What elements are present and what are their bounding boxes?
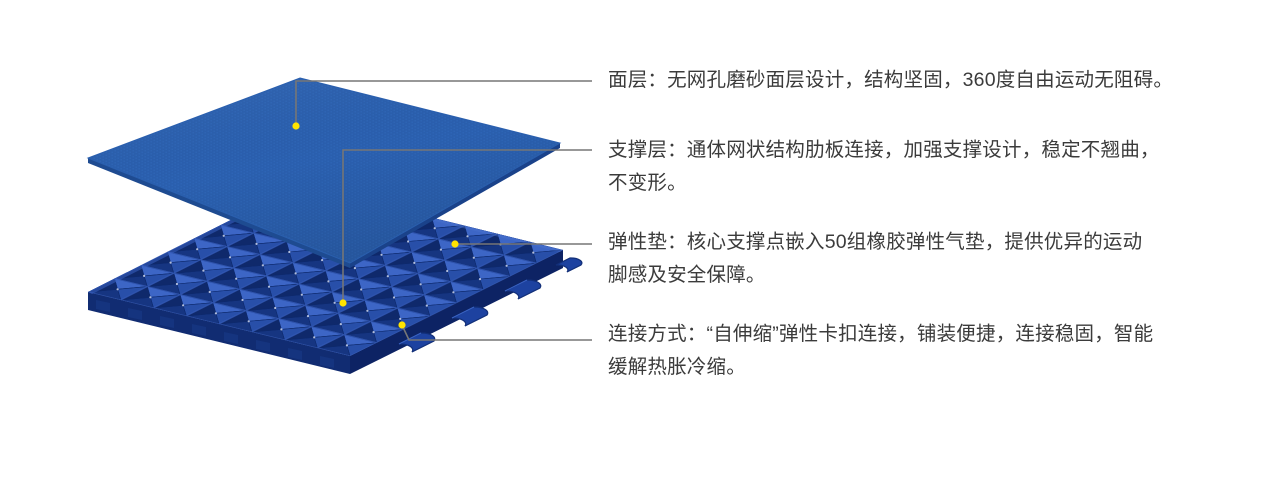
mesh-support-point [255, 243, 257, 245]
mesh-support-point [313, 336, 315, 338]
mesh-support-point [506, 265, 508, 267]
mesh-support-point [426, 305, 428, 307]
mesh-support-point [321, 259, 323, 261]
mesh-support-point [241, 299, 243, 301]
mesh-support-point [407, 240, 409, 242]
mesh-support-point [176, 283, 178, 285]
mesh-support-point [235, 278, 237, 280]
mesh-support-point [479, 278, 481, 280]
mesh-support-point [301, 294, 303, 296]
mesh-support-point [473, 257, 475, 259]
callout-cushion-text: 弹性垫：核心支撑点嵌入50组橡胶弹性气垫，提供优异的运动 脚感及安全保障。 [608, 226, 1248, 291]
callout-support-text: 支撑层：通体网状结构肋板连接，加强支撑设计，稳定不翘曲， 不变形。 [608, 134, 1248, 199]
mesh-support-point [280, 328, 282, 330]
mesh-support-point [196, 248, 198, 250]
mesh-support-point [440, 249, 442, 251]
callout-surface-text: 面层：无网孔磨砂面层设计，结构坚固，360度自由运动无阻碍。 [608, 64, 1248, 97]
mesh-support-point [380, 254, 382, 256]
mesh-support-point [532, 252, 534, 254]
mesh-support-point [334, 302, 336, 304]
mesh-support-point [262, 264, 264, 266]
mesh-support-point [223, 235, 225, 237]
mesh-support-point [248, 320, 250, 322]
product-exploded-illustration [0, 0, 600, 475]
mesh-support-point [117, 288, 119, 290]
callout-connection-text: 连接方式：“自伸缩”弹性卡扣连接，铺装便捷，连接稳固，智能 缓解热胀冷缩。 [608, 318, 1248, 383]
mesh-support-point [346, 344, 348, 346]
mesh-support-point [354, 267, 356, 269]
mesh-support-point [387, 275, 389, 277]
mesh-support-point [420, 283, 422, 285]
mesh-support-point [149, 296, 151, 298]
mesh-support-point [413, 262, 415, 264]
mesh-support-point [373, 331, 375, 333]
mesh-support-point [327, 280, 329, 282]
mesh-support-point [268, 286, 270, 288]
mesh-support-point [446, 270, 448, 272]
mesh-support-point [274, 307, 276, 309]
mesh-support-point [399, 318, 401, 320]
mesh-support-point [340, 323, 342, 325]
exploded-view-svg [0, 0, 600, 475]
mesh-support-point [202, 270, 204, 272]
mesh-support-point [229, 256, 231, 258]
mesh-support-point [434, 227, 436, 229]
callout-text-column: 面层：无网孔磨砂面层设计，结构坚固，360度自由运动无阻碍。 支撑层：通体网状结… [608, 0, 1268, 475]
mesh-support-point [452, 291, 454, 293]
mesh-support-point [143, 275, 145, 277]
mesh-support-point [215, 312, 217, 314]
mesh-support-point [182, 304, 184, 306]
mesh-support-point [307, 315, 309, 317]
mesh-support-point [393, 296, 395, 298]
mesh-support-point [209, 291, 211, 293]
mesh-support-point [360, 288, 362, 290]
mesh-support-point [466, 235, 468, 237]
mesh-support-point [288, 251, 290, 253]
mesh-support-point [295, 272, 297, 274]
mesh-support-point [366, 310, 368, 312]
mesh-support-point [170, 262, 172, 264]
mesh-support-point [499, 243, 501, 245]
illustration-page: 面层：无网孔磨砂面层设计，结构坚固，360度自由运动无阻碍。 支撑层：通体网状结… [0, 0, 1280, 475]
